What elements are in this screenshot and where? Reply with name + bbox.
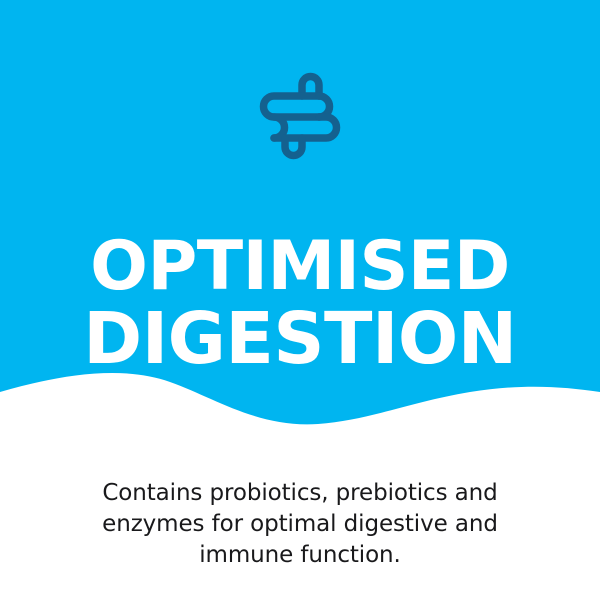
headline-line-2: DIGESTION [0, 303, 600, 375]
icon-container [0, 70, 600, 162]
body-description: Contains probiotics, prebiotics and enzy… [60, 478, 540, 571]
page-title: OPTIMISED DIGESTION [0, 231, 600, 375]
optimised-digestion-card: OPTIMISED DIGESTION Contains probiotics,… [0, 0, 600, 600]
intestine-gut-icon [258, 71, 342, 161]
headline-line-1: OPTIMISED [0, 231, 600, 303]
